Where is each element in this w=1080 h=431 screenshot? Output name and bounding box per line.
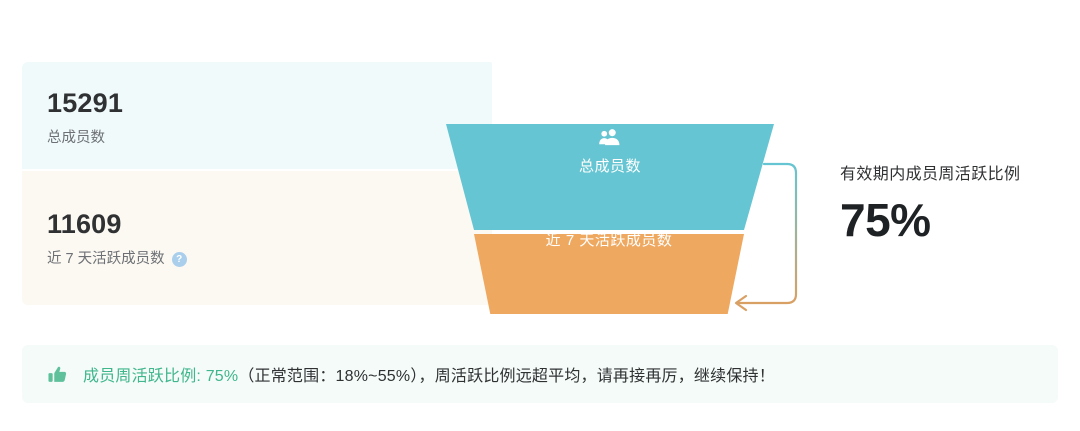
total-members-label-row: 总成员数 [47,131,105,146]
ratio-value: 75% [840,197,1020,243]
advisory-range: （正常范围：18%~55%） [238,368,418,385]
question-mark-icon[interactable]: ? [172,252,187,267]
funnel-shapes [412,54,812,314]
total-members-value: 15291 [47,90,123,117]
thumbs-up-icon [48,365,67,384]
funnel-segment-active [474,234,744,314]
active-members-label: 近 7 天活跃成员数 [47,252,165,267]
active-members-label-row: 近 7 天活跃成员数 ? [47,252,187,267]
advisory-banner: 成员周活跃比例: 75%（正常范围：18%~55%），周活跃比例远超平均，请再接… [22,345,1058,403]
ratio-caption: 有效期内成员周活跃比例 [840,167,1020,183]
funnel-card: 15291 总成员数 11609 近 7 天活跃成员数 ? [22,62,1058,305]
advisory-text: 成员周活跃比例: 75%（正常范围：18%~55%），周活跃比例远超平均，请再接… [83,362,775,386]
ratio-callout: 有效期内成员周活跃比例 75% [840,167,1020,243]
activity-funnel-widget: 15291 总成员数 11609 近 7 天活跃成员数 ? [0,0,1080,431]
advisory-metric: 成员周活跃比例: 75% [83,368,238,385]
funnel-segment-total [446,124,774,230]
active-members-value: 11609 [47,211,122,238]
advisory-message: ，周活跃比例远超平均，请再接再厉，继续保持！ [419,368,775,385]
total-members-label: 总成员数 [47,131,105,146]
